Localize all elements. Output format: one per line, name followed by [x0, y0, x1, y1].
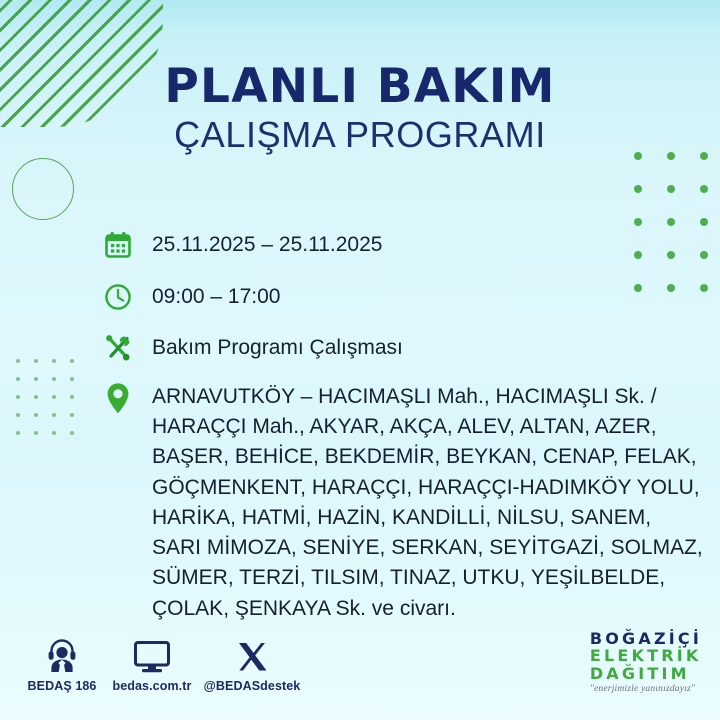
- decorative-dot: [667, 218, 675, 226]
- decorative-dot: [34, 413, 38, 417]
- address-line: GÖÇMENKENT, HARAÇÇI, HARAÇÇI-HADIMKÖY YO…: [152, 473, 703, 503]
- logo-line-bogazici: BOĞAZİÇİ: [590, 630, 702, 647]
- decorative-dot: [70, 377, 74, 381]
- date-range-text: 25.11.2025 – 25.11.2025: [152, 228, 382, 259]
- decorative-dot: [34, 395, 38, 399]
- clock-icon: [101, 280, 135, 314]
- contact-website-label: bedas.com.tr: [104, 679, 200, 693]
- page-subtitle: ÇALIŞMA PROGRAMI: [0, 113, 720, 156]
- dot-grid-left-decoration: [9, 352, 81, 442]
- decorative-dot: [700, 218, 708, 226]
- map-pin-icon: [101, 381, 135, 415]
- contact-social[interactable]: @BEDASdestek: [198, 634, 306, 693]
- decorative-dot: [70, 395, 74, 399]
- decorative-dot: [52, 431, 56, 435]
- info-row-address: ARNAVUTKÖY – HACIMAŞLI Mah., HACIMAŞLI S…: [101, 381, 711, 624]
- decorative-dot: [34, 431, 38, 435]
- decorative-dot: [70, 431, 74, 435]
- decorative-dot: [52, 377, 56, 381]
- address-text: ARNAVUTKÖY – HACIMAŞLI Mah., HACIMAŞLI S…: [152, 381, 703, 624]
- circle-outline-decoration: [12, 158, 74, 220]
- calendar-icon: [101, 228, 135, 262]
- time-range-text: 09:00 – 17:00: [152, 280, 280, 311]
- address-line: SARI MİMOZA, SENİYE, SERKAN, SEYİTGAZİ, …: [152, 533, 703, 563]
- decorative-dot: [70, 359, 74, 363]
- logo-line-elektrik: ELEKTRİK: [590, 647, 702, 664]
- tools-icon: [101, 331, 135, 365]
- planned-maintenance-poster: PLANLI BAKIM ÇALIŞMA PROGRAMI 25: [0, 0, 720, 720]
- contact-phone[interactable]: BEDAŞ 186: [18, 634, 106, 693]
- decorative-dot: [52, 395, 56, 399]
- headset-operator-icon: [18, 634, 106, 674]
- monitor-icon: [104, 634, 200, 674]
- address-line: ÇOLAK, ŞENKAYA Sk. ve civarı.: [152, 594, 703, 624]
- decorative-dot: [34, 359, 38, 363]
- poster-header: PLANLI BAKIM ÇALIŞMA PROGRAMI: [0, 62, 720, 157]
- decorative-dot: [16, 359, 20, 363]
- address-line: HARİKA, HATMİ, HAZİN, KANDİLLİ, NİLSU, S…: [152, 503, 703, 533]
- contact-phone-label: BEDAŞ 186: [18, 679, 106, 693]
- x-twitter-icon: [198, 634, 306, 674]
- decorative-dot: [634, 218, 642, 226]
- decorative-dot: [16, 413, 20, 417]
- address-line: BAŞER, BEHİCE, BEKDEMİR, BEYKAN, CENAP, …: [152, 442, 703, 472]
- decorative-dot: [70, 413, 74, 417]
- address-line: HARAÇÇI Mah., AKYAR, AKÇA, ALEV, ALTAN, …: [152, 412, 703, 442]
- decorative-dot: [52, 413, 56, 417]
- decorative-dot: [52, 359, 56, 363]
- decorative-dot: [634, 185, 642, 193]
- decorative-dot: [667, 185, 675, 193]
- logo-line-dagitim: DAĞITIM: [590, 665, 702, 682]
- address-line: ARNAVUTKÖY – HACIMAŞLI Mah., HACIMAŞLI S…: [152, 382, 703, 412]
- logo-tagline: "enerjimizle yanınızdayız": [590, 684, 702, 694]
- info-row-date: 25.11.2025 – 25.11.2025: [101, 228, 711, 262]
- decorative-dot: [16, 431, 20, 435]
- work-type-text: Bakım Programı Çalışması: [152, 331, 403, 362]
- page-title: PLANLI BAKIM: [0, 62, 720, 111]
- info-row-work-type: Bakım Programı Çalışması: [101, 331, 711, 365]
- info-block: 25.11.2025 – 25.11.2025 09:00 – 17:00: [101, 228, 711, 640]
- decorative-dot: [34, 377, 38, 381]
- bedas-logo: BOĞAZİÇİ ELEKTRİK DAĞITIM "enerjimizle y…: [590, 630, 702, 694]
- decorative-dot: [700, 185, 708, 193]
- contact-social-label: @BEDASdestek: [198, 679, 306, 693]
- poster-footer: BEDAŞ 186 bedas.com.tr @BEDASdestek BOĞA…: [0, 628, 720, 706]
- decorative-dot: [16, 395, 20, 399]
- info-row-time: 09:00 – 17:00: [101, 280, 711, 314]
- decorative-dot: [16, 377, 20, 381]
- contact-website[interactable]: bedas.com.tr: [104, 634, 200, 693]
- address-line: SÜMER, TERZİ, TILSIM, TINAZ, UTKU, YEŞİL…: [152, 563, 703, 593]
